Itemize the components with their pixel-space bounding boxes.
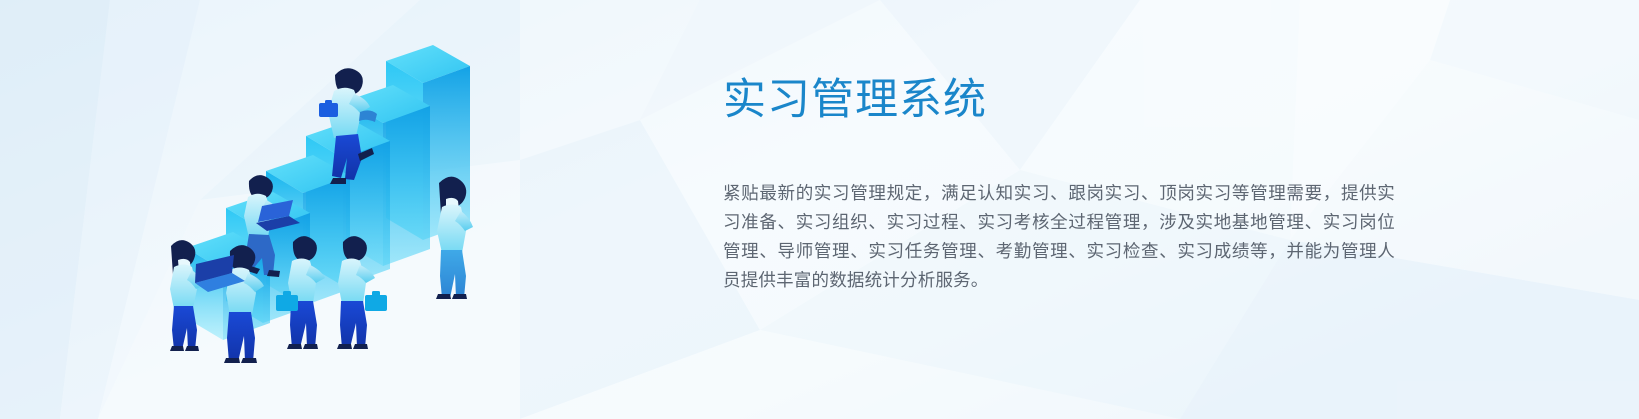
banner-description: 紧贴最新的实习管理规定，满足认知实习、跟岗实习、顶岗实习等管理需要，提供实习准备… [723, 128, 1395, 295]
isometric-chart-illustration [150, 18, 495, 363]
banner-root: 实习管理系统 紧贴最新的实习管理规定，满足认知实习、跟岗实习、顶岗实习等管理需要… [0, 0, 1639, 419]
page-title: 实习管理系统 [723, 72, 1413, 128]
banner-illustration [150, 18, 495, 363]
banner-text-block: 实习管理系统 紧贴最新的实习管理规定，满足认知实习、跟岗实习、顶岗实习等管理需要… [723, 72, 1413, 295]
